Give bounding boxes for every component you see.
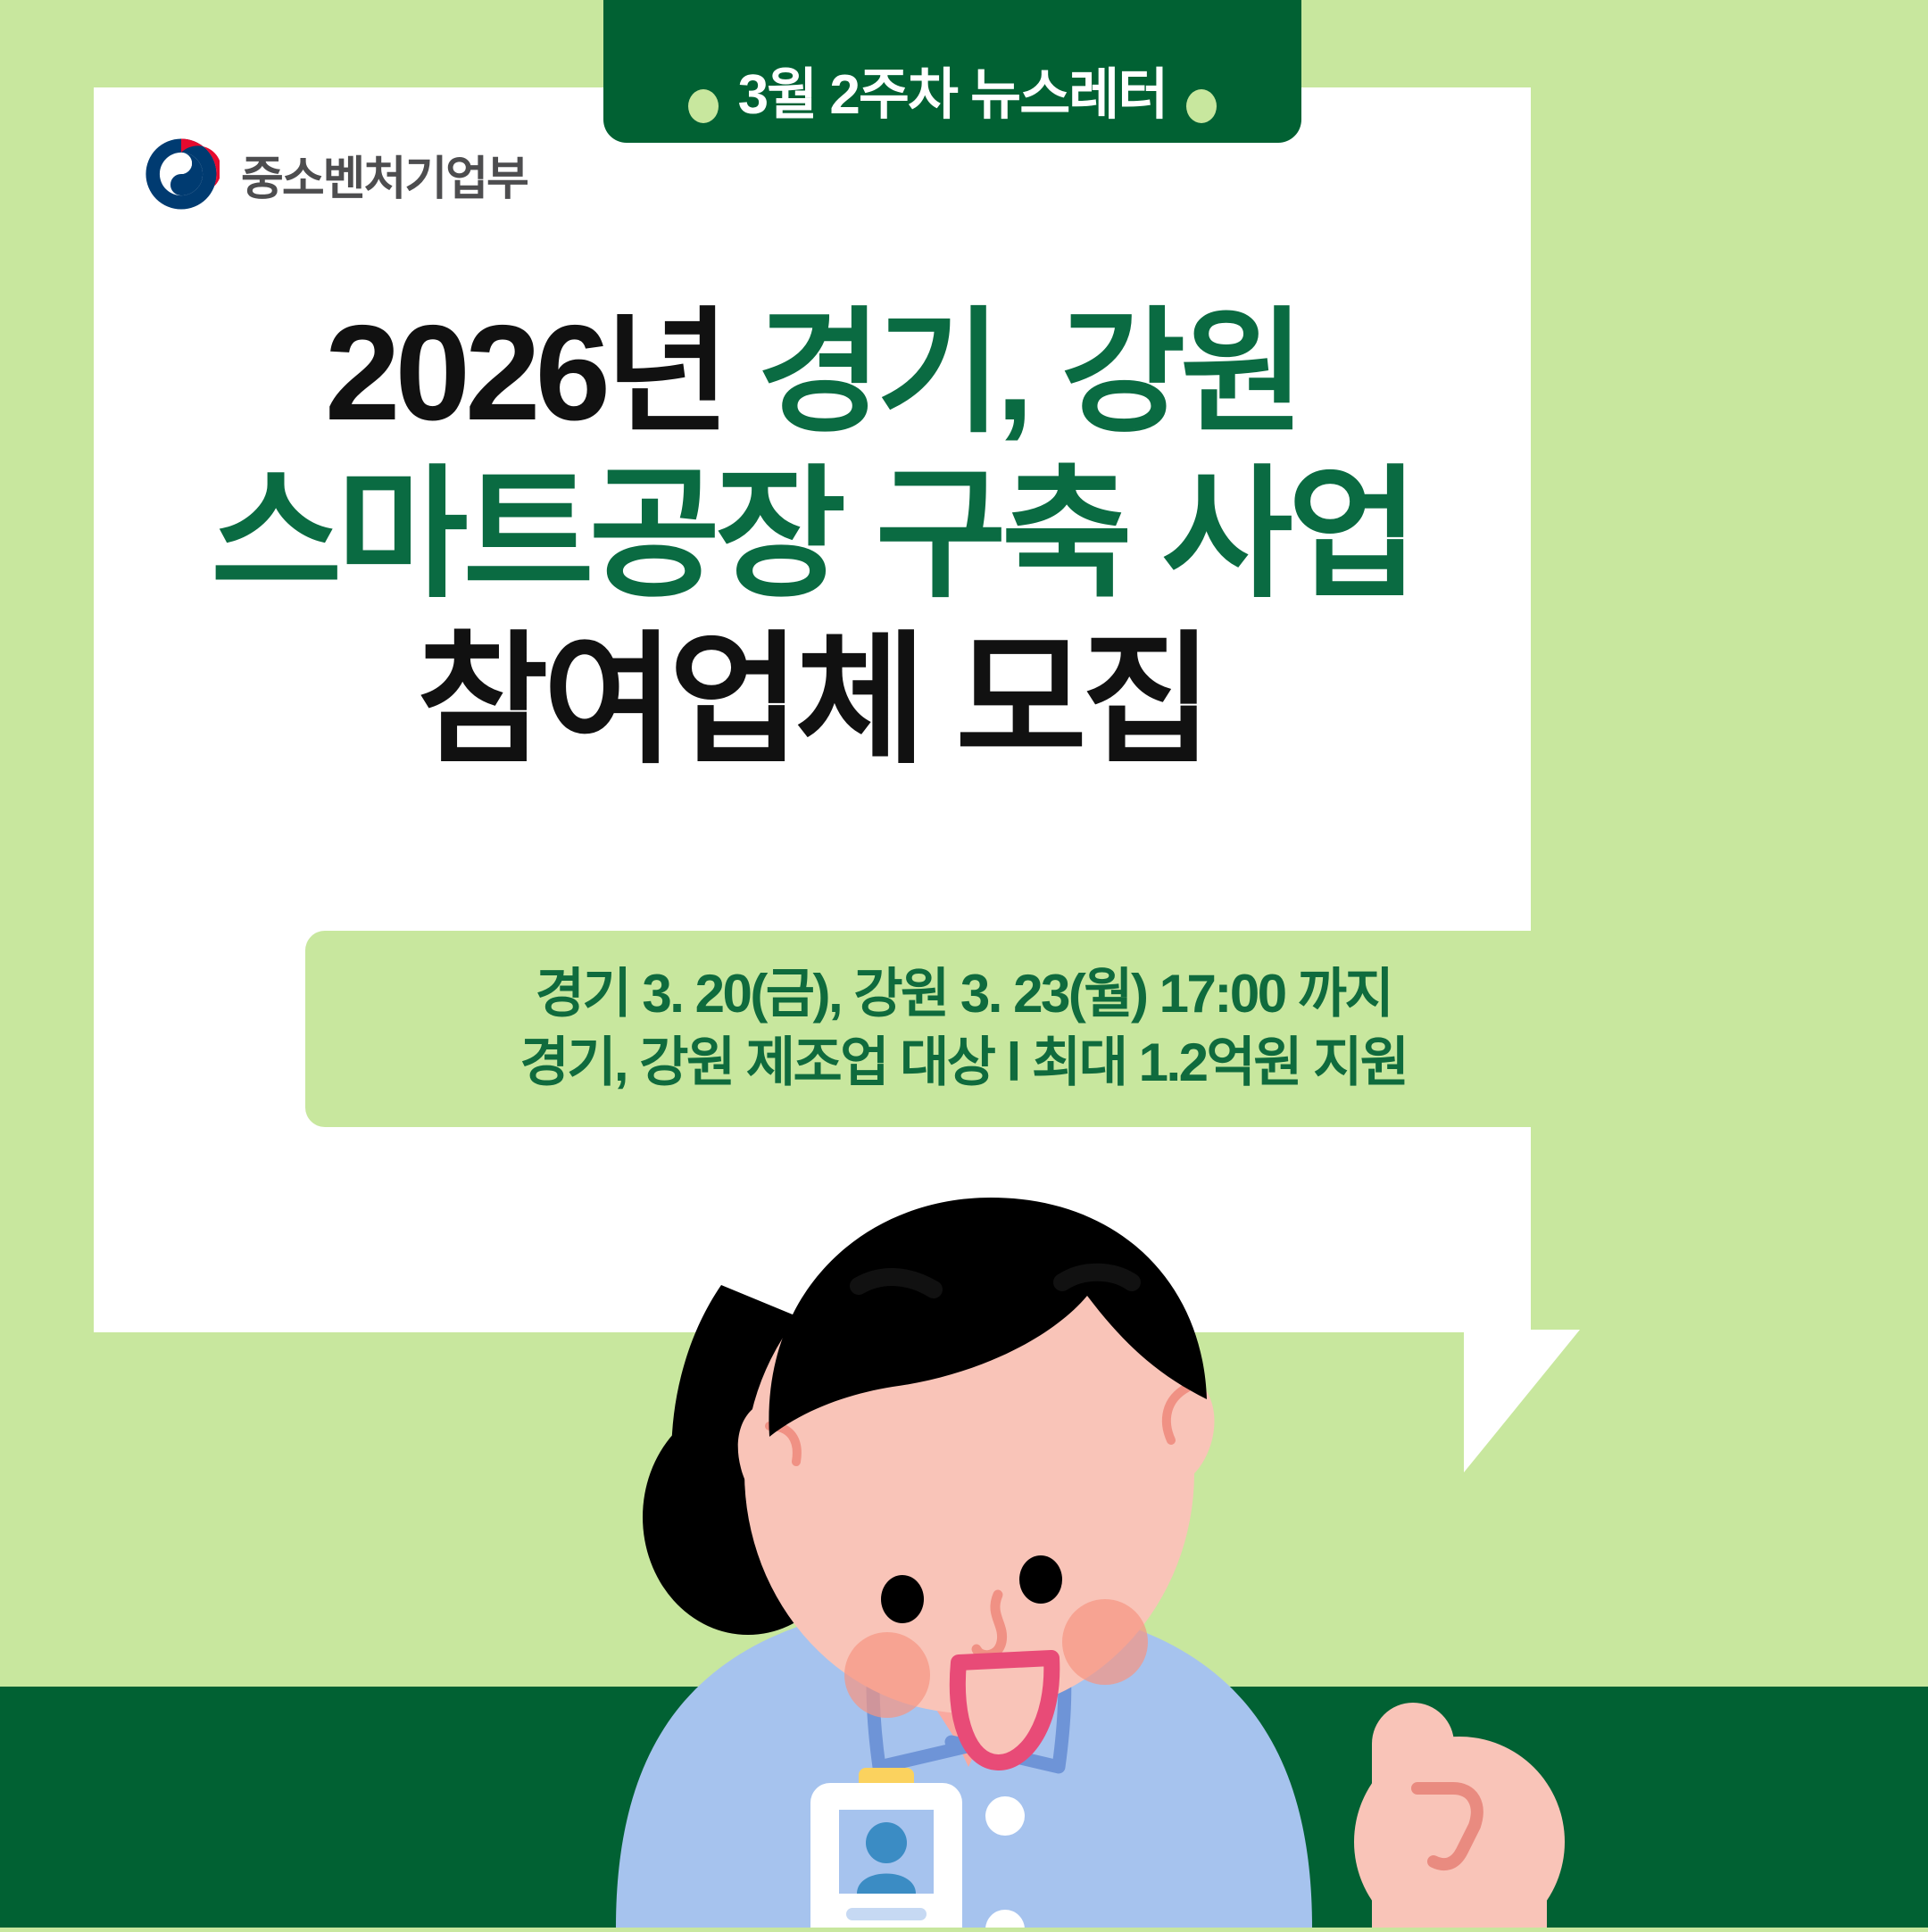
headline-line-1: 2026년 경기, 강원 [94, 294, 1531, 452]
ribbon-label: 3월 2주차 뉴스레터 [738, 68, 1168, 123]
info-deadline-line: 경기 3. 20(금), 강원 3. 23(월) 17:00 까지 [536, 963, 1392, 1026]
korea-government-taegeuk-icon [143, 136, 220, 212]
pointing-hand [1354, 1703, 1565, 1928]
id-badge-icon [810, 1768, 962, 1928]
dot-icon-right [1186, 89, 1217, 123]
smiling-woman-pointing-up-illustration [0, 1142, 1928, 1928]
headline-region: 경기, 강원 [757, 297, 1300, 449]
ministry-logo: 중소벤처기업부 [143, 136, 528, 212]
info-eligibility-line: 경기, 강원 제조업 대상 l 최대 1.2억원 지원 [520, 1032, 1408, 1095]
ministry-name: 중소벤처기업부 [241, 141, 528, 208]
headline-line-2: 스마트공장 구축 사업 [94, 452, 1531, 618]
page-title: 2026년 경기, 강원 스마트공장 구축 사업 참여업체 모집 [94, 294, 1531, 784]
headline-year: 2026년 [325, 297, 757, 449]
info-summary-box: 경기 3. 20(금), 강원 3. 23(월) 17:00 까지 경기, 강원… [305, 931, 1622, 1127]
newsletter-ribbon: 3월 2주차 뉴스레터 [603, 0, 1301, 143]
dot-icon-left [688, 89, 719, 123]
headline-line-3: 참여업체 모집 [94, 618, 1531, 784]
